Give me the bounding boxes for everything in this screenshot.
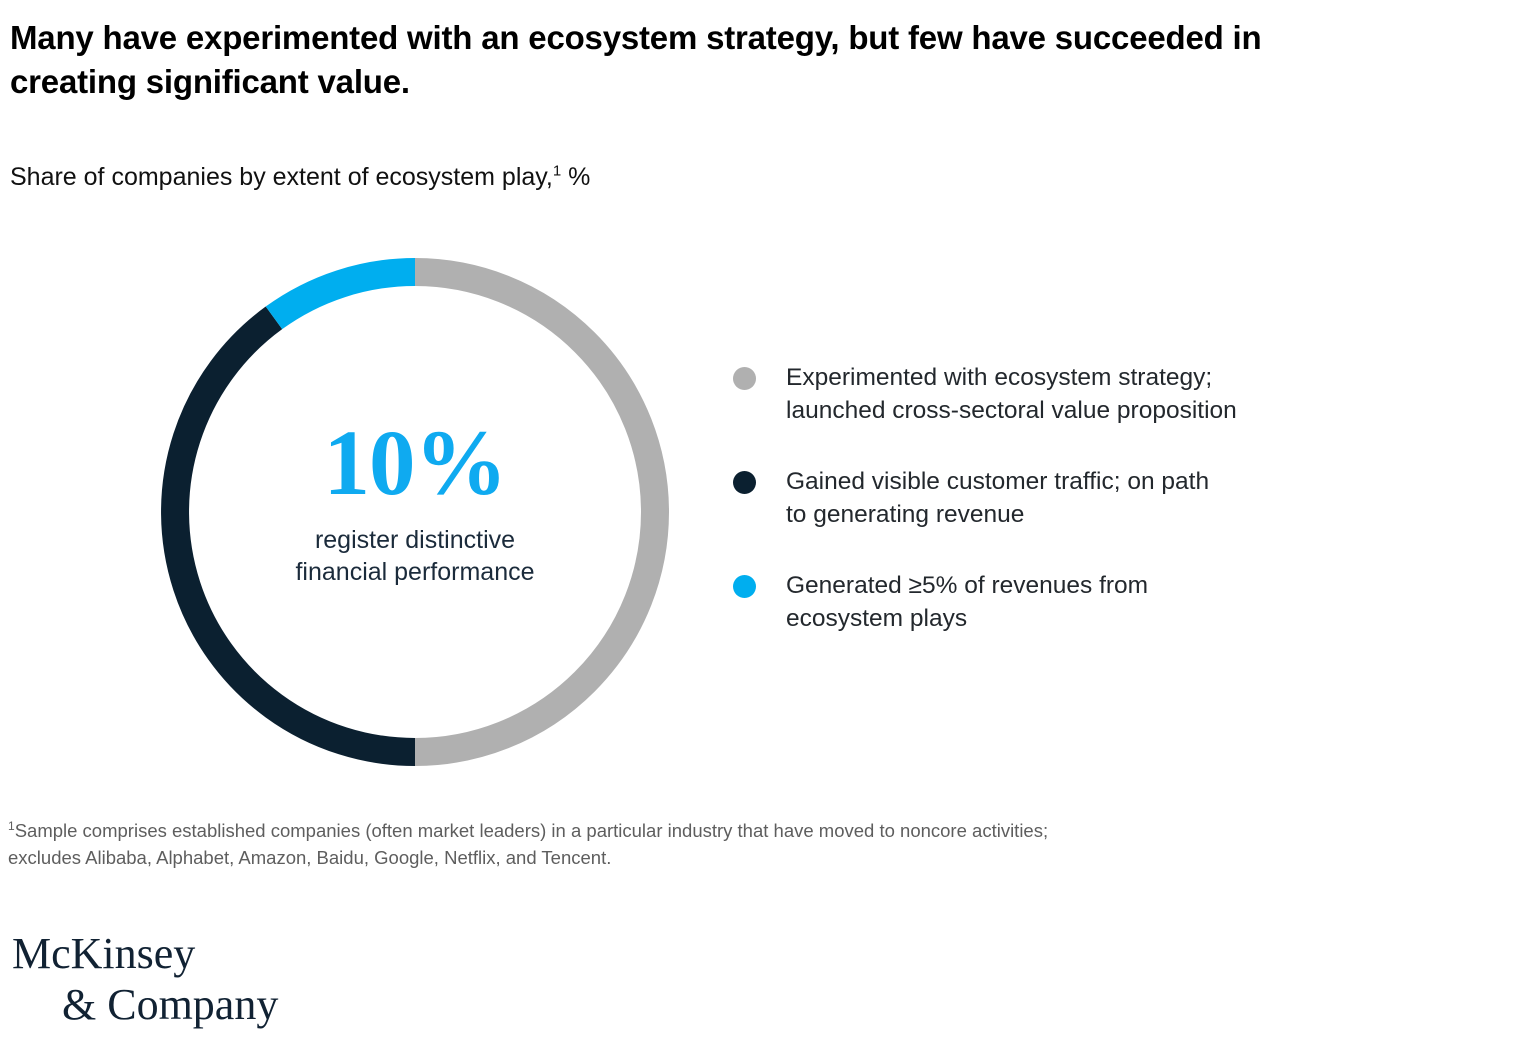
donut-center-value: 10% <box>324 418 507 509</box>
chart-subtitle: Share of companies by extent of ecosyste… <box>10 162 590 192</box>
footnote-text: Sample comprises established companies (… <box>8 820 1048 868</box>
chart-legend: Experimented with ecosystem strategy; la… <box>733 362 1353 674</box>
chart-subtitle-text: Share of companies by extent of ecosyste… <box>10 163 553 191</box>
legend-item-label: Generated ≥5% of revenues from ecosystem… <box>786 570 1148 635</box>
legend-dot-icon <box>733 575 756 598</box>
legend-item-generated-revenue: Generated ≥5% of revenues from ecosystem… <box>733 570 1353 635</box>
donut-center-annotation: 10% register distinctive financial perfo… <box>161 258 669 766</box>
legend-dot-icon <box>733 471 756 494</box>
legend-dot-icon <box>733 367 756 390</box>
donut-chart: 10% register distinctive financial perfo… <box>161 258 669 766</box>
legend-item-label: Gained visible customer traffic; on path… <box>786 466 1209 531</box>
chart-subtitle-footnote-marker: 1 <box>553 163 561 180</box>
legend-item-label: Experimented with ecosystem strategy; la… <box>786 362 1237 427</box>
logo-line-2: & Company <box>12 979 278 1030</box>
chart-subtitle-unit: % <box>561 163 590 191</box>
logo-line-1: McKinsey <box>12 929 195 978</box>
donut-center-caption: register distinctive financial performan… <box>295 524 534 588</box>
footnote-marker: 1 <box>8 819 15 833</box>
legend-item-gained-traffic: Gained visible customer traffic; on path… <box>733 466 1353 531</box>
page-title: Many have experimented with an ecosystem… <box>10 16 1330 104</box>
mckinsey-logo: McKinsey & Company <box>12 928 278 1031</box>
legend-item-experimented: Experimented with ecosystem strategy; la… <box>733 362 1353 427</box>
chart-footnote: 1Sample comprises established companies … <box>8 818 1358 872</box>
